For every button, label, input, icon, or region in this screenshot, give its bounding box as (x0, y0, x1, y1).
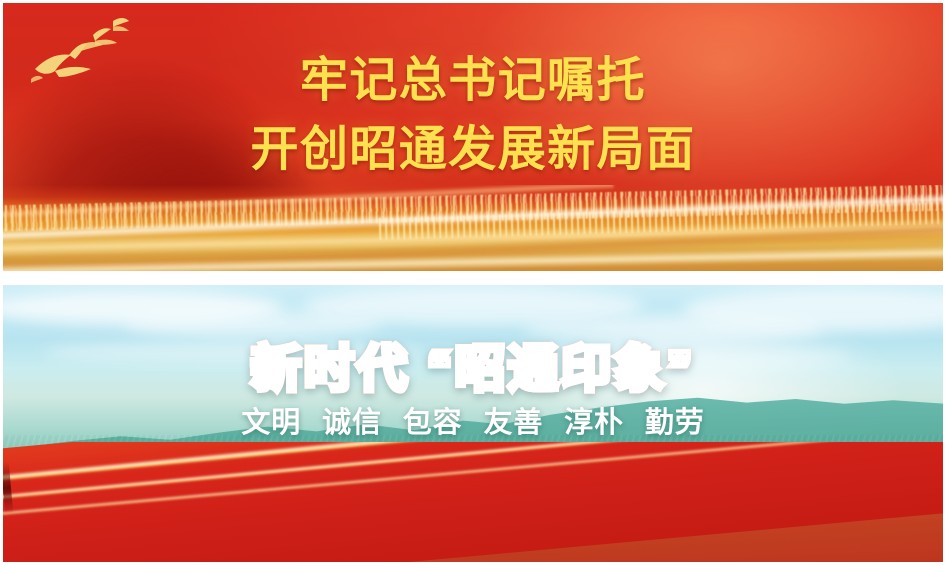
headline-line-1: 牢记总书记嘱托 (3, 49, 943, 112)
subtitle-word-4: 友善 (483, 407, 543, 439)
bottom-scenery-banner: 新时代 “昭通印象” 文明 诚信 包容 友善 淳朴 勤劳 (3, 285, 943, 562)
poster-root: 牢记总书记嘱托 开创昭通发展新局面 (0, 0, 946, 565)
scenery-title: 新时代 “昭通印象” (3, 329, 943, 401)
top-red-banner: 牢记总书记嘱托 开创昭通发展新局面 (3, 3, 943, 271)
red-ribbon-swoosh (3, 442, 943, 562)
gold-wave-band (3, 185, 943, 271)
subtitle-word-3: 包容 (403, 407, 463, 439)
top-headline: 牢记总书记嘱托 开创昭通发展新局面 (3, 49, 943, 182)
headline-line-2: 开创昭通发展新局面 (3, 118, 943, 181)
scenery-subtitle: 文明 诚信 包容 友善 淳朴 勤劳 (3, 399, 943, 441)
subtitle-word-6: 勤劳 (645, 407, 705, 439)
subtitle-word-5: 淳朴 (564, 407, 624, 439)
subtitle-word-2: 诚信 (322, 407, 382, 439)
subtitle-word-1: 文明 (241, 407, 301, 439)
